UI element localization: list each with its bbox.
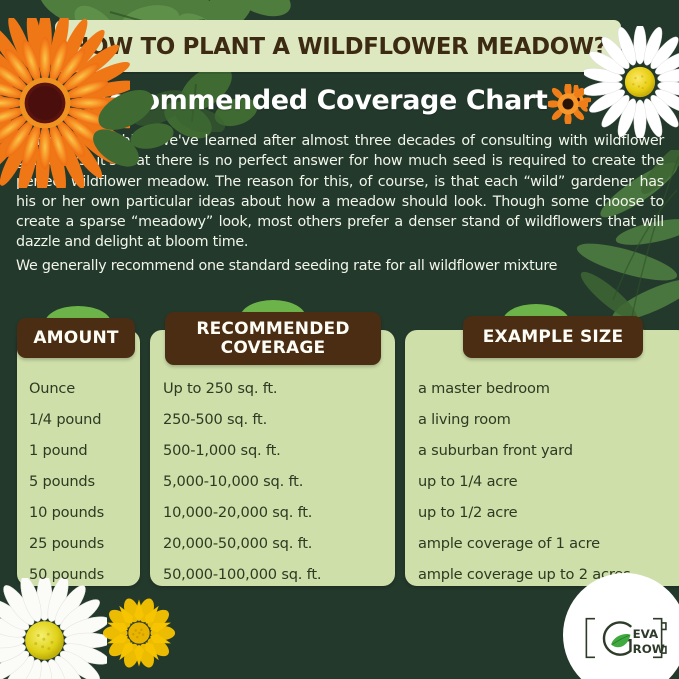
cell-amount-3: 5 pounds bbox=[29, 473, 95, 490]
cell-example-1: a living room bbox=[418, 411, 511, 428]
cell-amount-1: 1/4 pound bbox=[29, 411, 101, 428]
cell-example-3: up to 1/4 acre bbox=[418, 473, 517, 490]
subtitle: Recommended Coverage Chart bbox=[88, 85, 548, 116]
infographic-canvas: HOW TO PLANT A WILDFLOWER MEADOW? Recomm… bbox=[0, 0, 679, 679]
white-daisy-flower-bottom-left bbox=[0, 578, 107, 679]
recommendation-paragraph: We generally recommend one standard seed… bbox=[16, 256, 664, 276]
cell-amount-0: Ounce bbox=[29, 380, 75, 397]
header-pill-recommended-coverage: RECOMMENDED COVERAGE bbox=[165, 312, 381, 365]
cell-example-2: a suburban front yard bbox=[418, 442, 573, 459]
cell-amount-2: 1 pound bbox=[29, 442, 87, 459]
subtitle-row: Recommended Coverage Chart bbox=[0, 78, 679, 122]
logo-text-row: ROW bbox=[633, 642, 665, 656]
cell-example-0: a master bedroom bbox=[418, 380, 550, 397]
cell-amount-5: 25 pounds bbox=[29, 535, 104, 552]
column-header-example-size: EXAMPLE SIZE bbox=[483, 328, 624, 347]
cell-coverage-3: 5,000-10,000 sq. ft. bbox=[163, 473, 303, 490]
page-title: HOW TO PLANT A WILDFLOWER MEADOW? bbox=[70, 32, 606, 60]
column-header-amount: AMOUNT bbox=[33, 329, 118, 348]
cell-example-5: ample coverage of 1 acre bbox=[418, 535, 600, 552]
intro-paragraph: If there's one thing we've learned after… bbox=[16, 131, 664, 253]
title-banner: HOW TO PLANT A WILDFLOWER MEADOW? bbox=[55, 20, 621, 72]
cell-coverage-0: Up to 250 sq. ft. bbox=[163, 380, 277, 397]
header-pill-example-size: EXAMPLE SIZE bbox=[463, 316, 643, 358]
cell-amount-6: 50 pounds bbox=[29, 566, 104, 583]
cell-coverage-5: 20,000-50,000 sq. ft. bbox=[163, 535, 312, 552]
yellow-coreopsis-flower bbox=[98, 592, 180, 674]
logo-text-eva: EVA bbox=[633, 627, 659, 641]
column-header-recommended-coverage: RECOMMENDED COVERAGE bbox=[165, 320, 381, 358]
cell-example-4: up to 1/2 acre bbox=[418, 504, 517, 521]
cell-coverage-4: 10,000-20,000 sq. ft. bbox=[163, 504, 312, 521]
header-pill-amount: AMOUNT bbox=[17, 318, 135, 358]
cell-amount-4: 10 pounds bbox=[29, 504, 104, 521]
eva-grow-logo-mark: EVA ROW bbox=[581, 611, 667, 665]
cell-coverage-2: 500-1,000 sq. ft. bbox=[163, 442, 281, 459]
small-orange-flower-icon bbox=[561, 85, 591, 115]
cell-coverage-6: 50,000-100,000 sq. ft. bbox=[163, 566, 321, 583]
cell-coverage-1: 250-500 sq. ft. bbox=[163, 411, 267, 428]
logo: EVA ROW bbox=[559, 589, 679, 679]
